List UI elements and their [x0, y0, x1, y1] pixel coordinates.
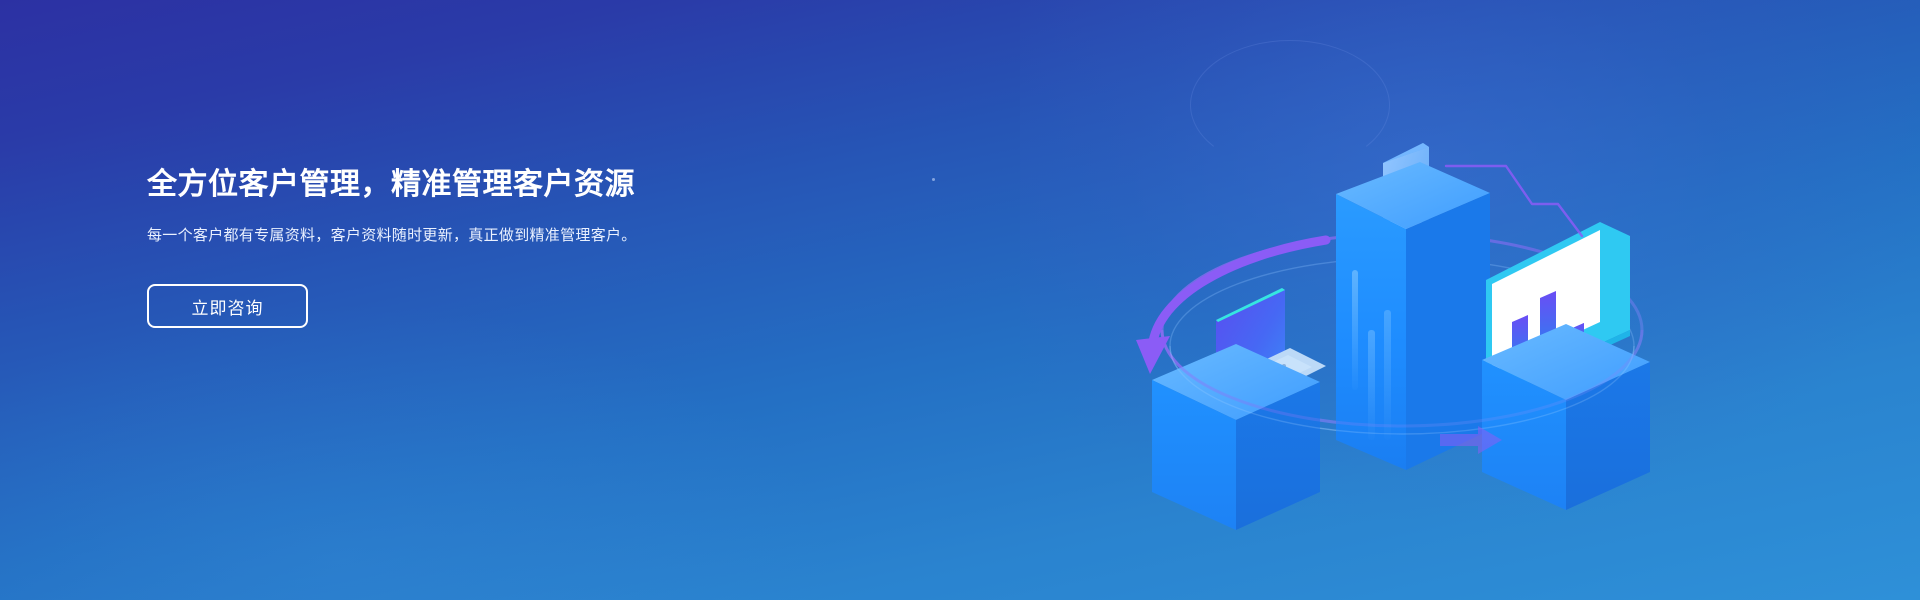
hero-copy-block: 全方位客户管理，精准管理客户资源 每一个客户都有专属资料，客户资料随时更新，真正…: [147, 164, 787, 328]
background-speck: [932, 178, 935, 181]
page-title: 全方位客户管理，精准管理客户资源: [147, 164, 787, 206]
consult-now-button[interactable]: 立即咨询: [147, 284, 308, 328]
hero-banner: 全方位客户管理，精准管理客户资源 每一个客户都有专属资料，客户资料随时更新，真正…: [0, 0, 1920, 600]
background-glow-lower: [0, 300, 840, 600]
hero-illustration: [1130, 30, 1670, 570]
hero-subtitle: 每一个客户都有专属资料，客户资料随时更新，真正做到精准管理客户。: [147, 224, 737, 248]
